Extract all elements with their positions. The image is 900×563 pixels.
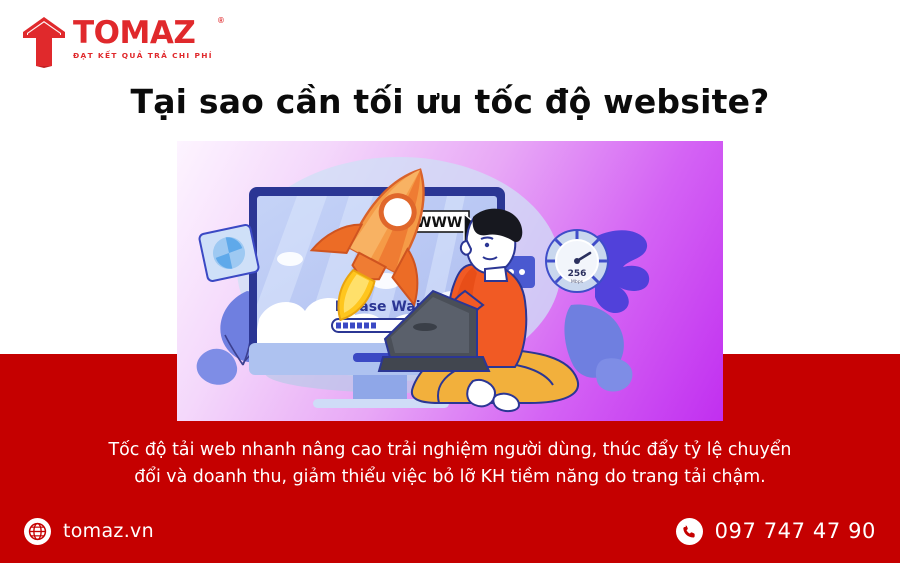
footer-bar: tomaz.vn 097 747 47 90 [0,503,900,563]
speedometer-unit: Mbps [571,279,584,285]
website-label: tomaz.vn [63,520,154,542]
description-text: Tốc độ tải web nhanh nâng cao trải nghiệ… [90,437,810,491]
browser-bar-text: WWW [416,215,462,231]
image-tile-icon [199,224,260,282]
page-title: Tại sao cần tối ưu tốc độ website? [0,82,900,121]
speedometer-value: 256 [568,269,587,279]
poster-canvas: TOMAZ ® ĐẠT KẾT QUẢ TRẢ CHI PHÍ Tại sao … [0,0,900,563]
globe-icon [24,518,51,545]
phone-label: 097 747 47 90 [715,519,876,543]
phone-contact[interactable]: 097 747 47 90 [676,518,876,545]
speedometer-gauge: 256 Mbps [545,229,649,313]
phone-icon [676,518,703,545]
registered-mark: ® [218,16,224,25]
description-line-1: Tốc độ tải web nhanh nâng cao trải nghiệ… [90,437,810,464]
website-contact[interactable]: tomaz.vn [24,518,154,545]
brand-name: TOMAZ [73,18,213,49]
hero-illustration: Please Wait WWW [177,141,723,421]
brand-tagline: ĐẠT KẾT QUẢ TRẢ CHI PHÍ [73,51,213,60]
tomaz-arrow-logo-icon [22,16,66,68]
website-speed-optimization-illustration: Please Wait WWW [177,141,723,421]
brand-logo[interactable]: TOMAZ ® ĐẠT KẾT QUẢ TRẢ CHI PHÍ [22,16,213,68]
description-line-2: đổi và doanh thu, giảm thiểu việc bỏ lỡ … [90,464,810,491]
